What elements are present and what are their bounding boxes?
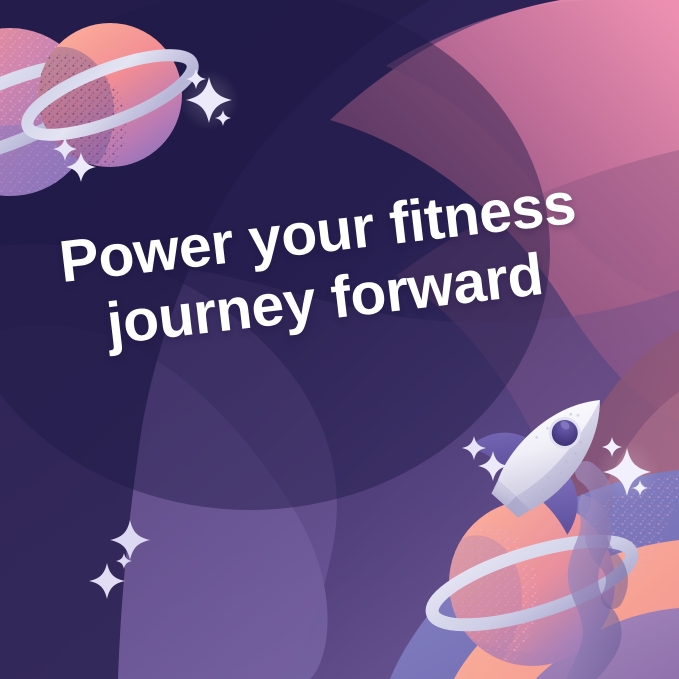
promo-banner: Power your fitness journey forward — [0, 0, 679, 679]
space-illustration — [0, 0, 679, 679]
sparkle-star-icon — [595, 440, 659, 504]
